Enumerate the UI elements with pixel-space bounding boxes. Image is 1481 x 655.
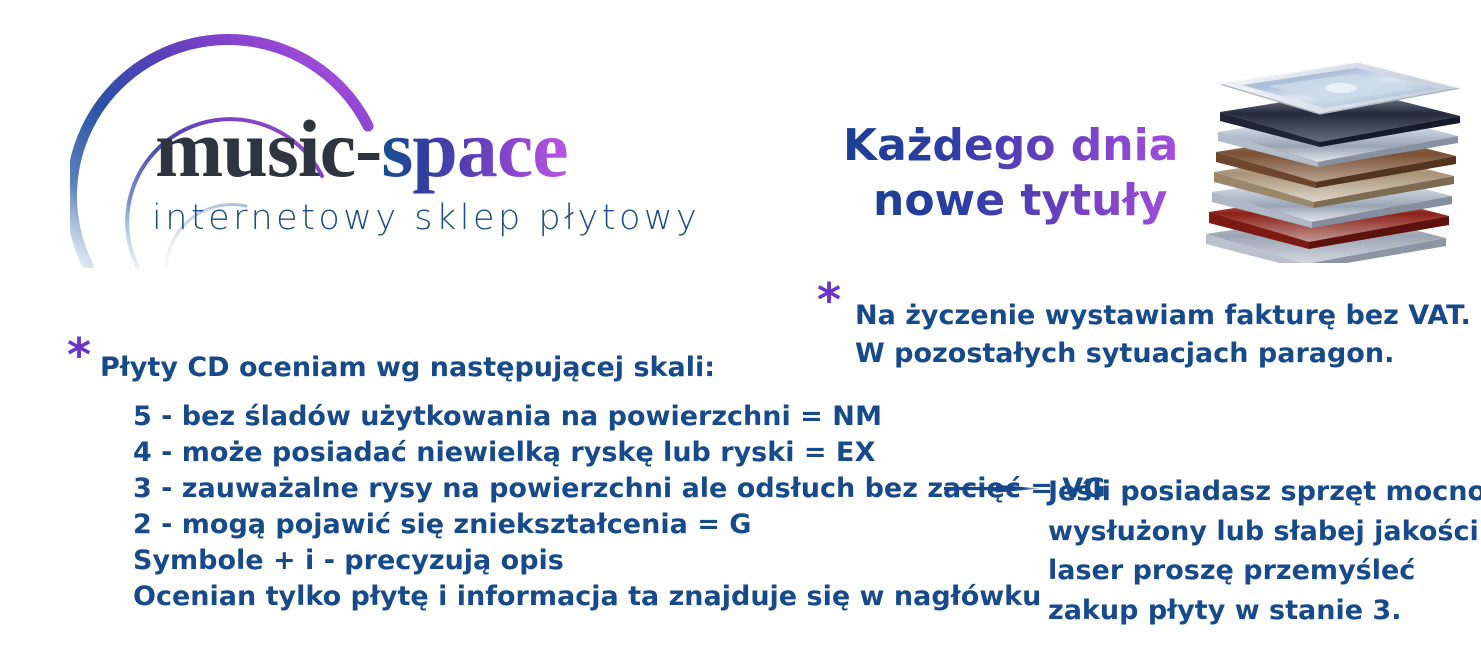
headline-line-2: nowe tytuły xyxy=(873,173,1178,228)
scale-item-text: 2 - mogą pojawić się zniekształcenia = xyxy=(133,509,729,540)
grading-scale-list: 5 - bez śladów użytkowania na powierzchn… xyxy=(133,399,1106,614)
asterisk-bullet-icon: * xyxy=(812,283,846,317)
warning-note-line-2: wysłużony lub słabej jakości xyxy=(1048,512,1481,552)
warning-note-line-4: zakup płyty w stanie 3. xyxy=(1048,591,1481,631)
scale-item-text: 5 - bez śladów użytkowania na powierzchn… xyxy=(133,401,832,432)
list-item: Ocenian tylko płytę i informacja ta znaj… xyxy=(133,579,1106,615)
headline-line-1: Każdego dnia xyxy=(843,118,1178,173)
grading-scale-title-suffix: oceniam wg następującej skali: xyxy=(230,352,715,383)
scale-item-text: Ocenian tylko płytę i informacja ta znaj… xyxy=(133,581,1041,612)
headline: Każdego dnia nowe tytuły xyxy=(843,118,1178,228)
scale-item-text: 3 - zauważalne rysy na powierzchni ale o… xyxy=(133,473,1062,504)
logo-word-music: music xyxy=(155,103,355,194)
grading-scale-title-prefix: Płyty xyxy=(100,352,187,383)
grading-scale-title: Płyty CD oceniam wg następującej skali: xyxy=(100,352,1106,383)
asterisk-bullet-icon: * xyxy=(62,338,96,372)
warning-note-line-1: Jeśli posiadasz sprzęt mocno xyxy=(1048,472,1481,512)
scale-item-grade: NM xyxy=(832,401,882,432)
right-arrow-icon xyxy=(944,478,1044,500)
scale-item-grade: EX xyxy=(836,437,876,468)
list-item: 4 - może posiadać niewielką ryskę lub ry… xyxy=(133,435,1106,471)
list-item: 2 - mogą pojawić się zniekształcenia = G xyxy=(133,507,1106,543)
cd-stack-image xyxy=(1190,58,1470,263)
warning-note: Jeśli posiadasz sprzęt mocno wysłużony l… xyxy=(1048,472,1481,631)
logo-wordmark: music-space xyxy=(155,108,568,190)
warning-note-line-3: laser proszę przemyśleć xyxy=(1048,551,1481,591)
grading-scale-title-bold: CD xyxy=(187,352,229,383)
banner-root: music-space internetowy sklep płytowy Ka… xyxy=(0,0,1481,655)
logo-word-dash: - xyxy=(355,103,381,194)
logo-tagline: internetowy sklep płytowy xyxy=(152,198,700,238)
list-item: Symbole + i - precyzują opis xyxy=(133,543,1106,579)
list-item: 5 - bez śladów użytkowania na powierzchn… xyxy=(133,399,1106,435)
logo-word-space: space xyxy=(381,103,567,194)
scale-item-text: Symbole + i - precyzują opis xyxy=(133,545,564,576)
scale-item-text: 4 - może posiadać niewielką ryskę lub ry… xyxy=(133,437,836,468)
site-logo[interactable]: music-space internetowy sklep płytowy xyxy=(70,18,770,268)
vat-note-line-1: Na życzenie wystawiam fakturę bez VAT. xyxy=(855,297,1471,335)
scale-item-grade: G xyxy=(729,509,751,540)
